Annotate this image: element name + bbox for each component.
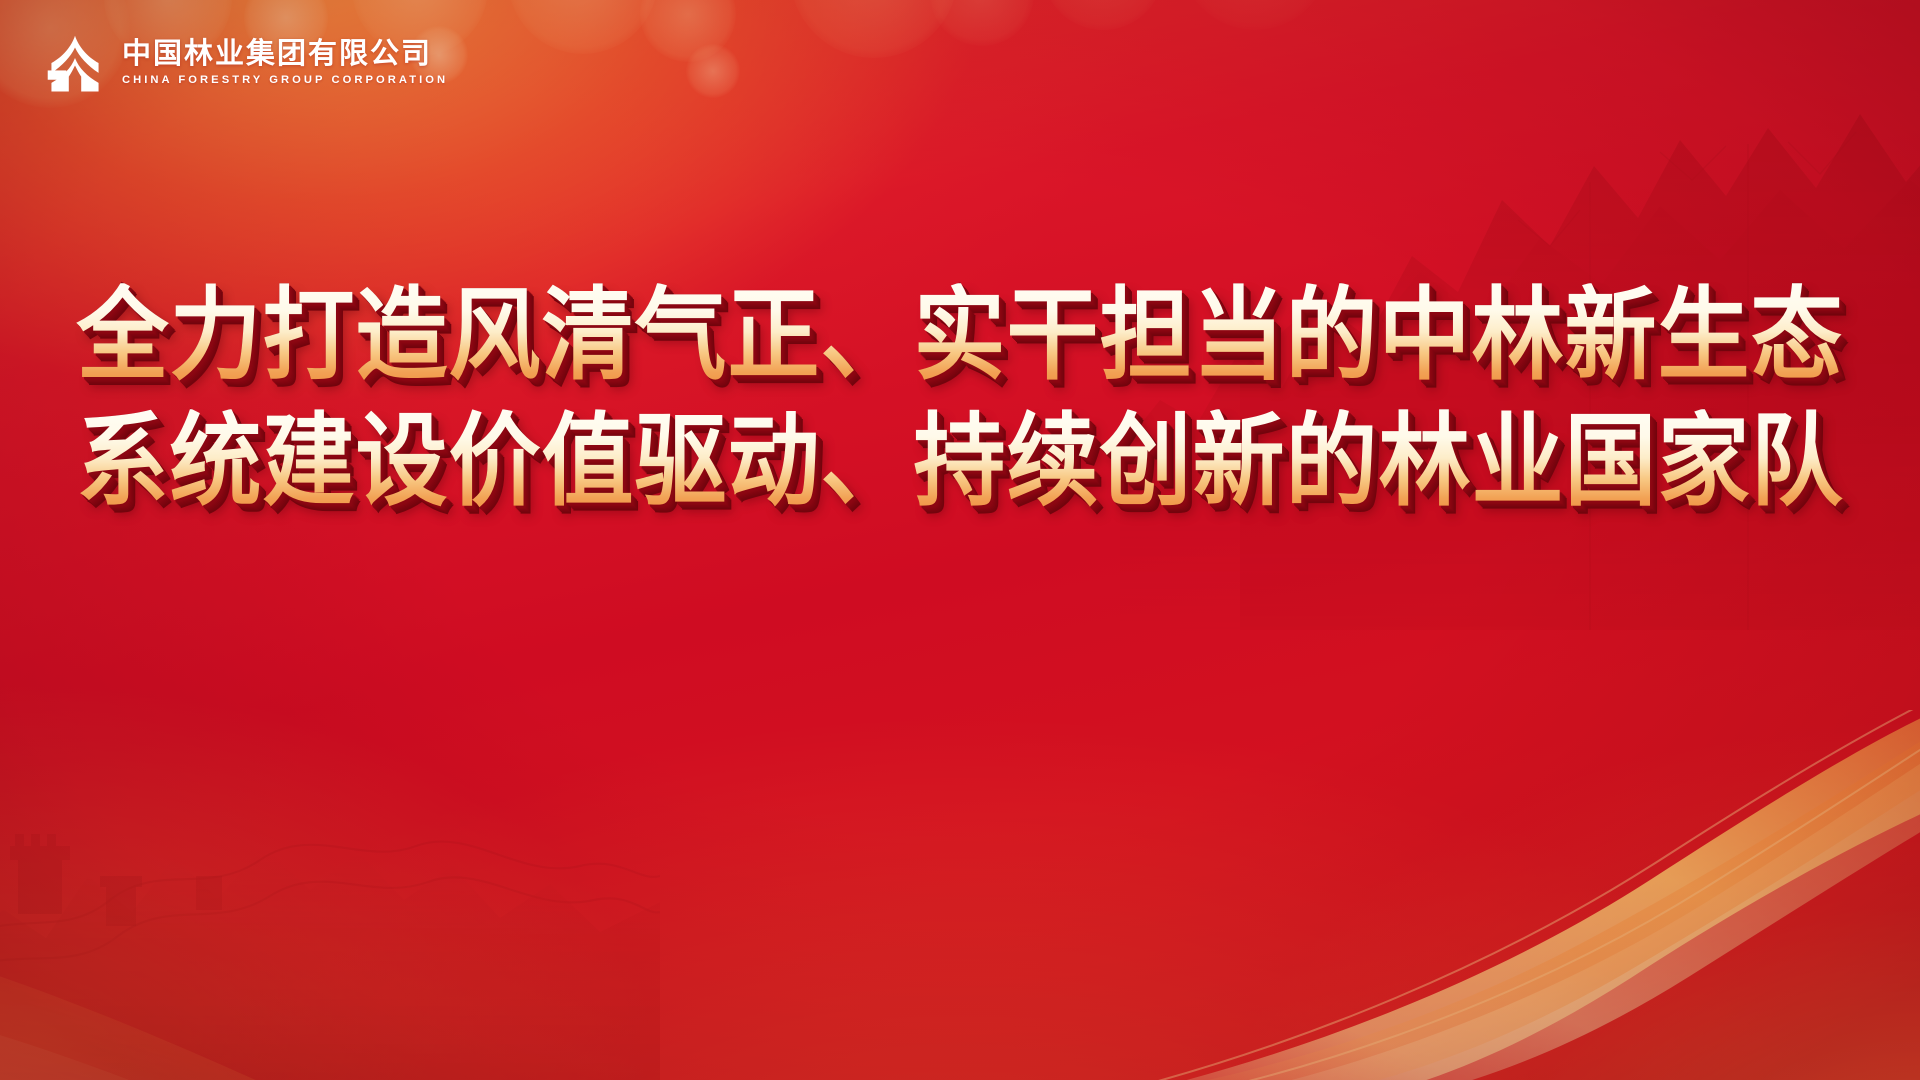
bokeh-circle (930, 0, 1034, 46)
bokeh-circle (1042, 0, 1164, 30)
bokeh-circle (508, 0, 658, 54)
brand-wordmark: 中国林业集团有限公司 CHINA FORESTRY GROUP CORPORAT… (122, 39, 448, 86)
headline-line-1: 全力打造风清气正、实干担当的中林新生态 全力打造风清气正、实干担当的中林新生态 (76, 283, 1843, 388)
bokeh-circle (1180, 0, 1330, 30)
bokeh-circle (640, 0, 736, 62)
vignette-overlay (0, 0, 1920, 1080)
headline-block: 全力打造风清气正、实干担当的中林新生态 全力打造风清气正、实干担当的中林新生态 … (0, 288, 1920, 509)
bokeh-layer (0, 0, 1920, 1080)
bokeh-circle (790, 0, 958, 58)
brand-name-en: CHINA FORESTRY GROUP CORPORATION (122, 75, 448, 86)
brand-logo: 中国林业集团有限公司 CHINA FORESTRY GROUP CORPORAT… (44, 32, 448, 94)
forestry-pagoda-icon (44, 32, 106, 94)
brand-name-cn: 中国林业集团有限公司 (122, 39, 448, 68)
bokeh-circle (686, 44, 740, 98)
gold-ribbon-bottom-right (1000, 710, 1920, 1080)
headline-line-2: 系统建设价值驱动、持续创新的林业国家队 系统建设价值驱动、持续创新的林业国家队 (76, 409, 1843, 514)
promotional-banner: 中国林业集团有限公司 CHINA FORESTRY GROUP CORPORAT… (0, 0, 1920, 1080)
great-wall-texture (0, 670, 660, 1080)
headline-line-1-text: 全力打造风清气正、实干担当的中林新生态 (76, 283, 1843, 388)
headline-line-2-text: 系统建设价值驱动、持续创新的林业国家队 (76, 409, 1843, 514)
gold-sheen-bottom-left (0, 820, 640, 1080)
